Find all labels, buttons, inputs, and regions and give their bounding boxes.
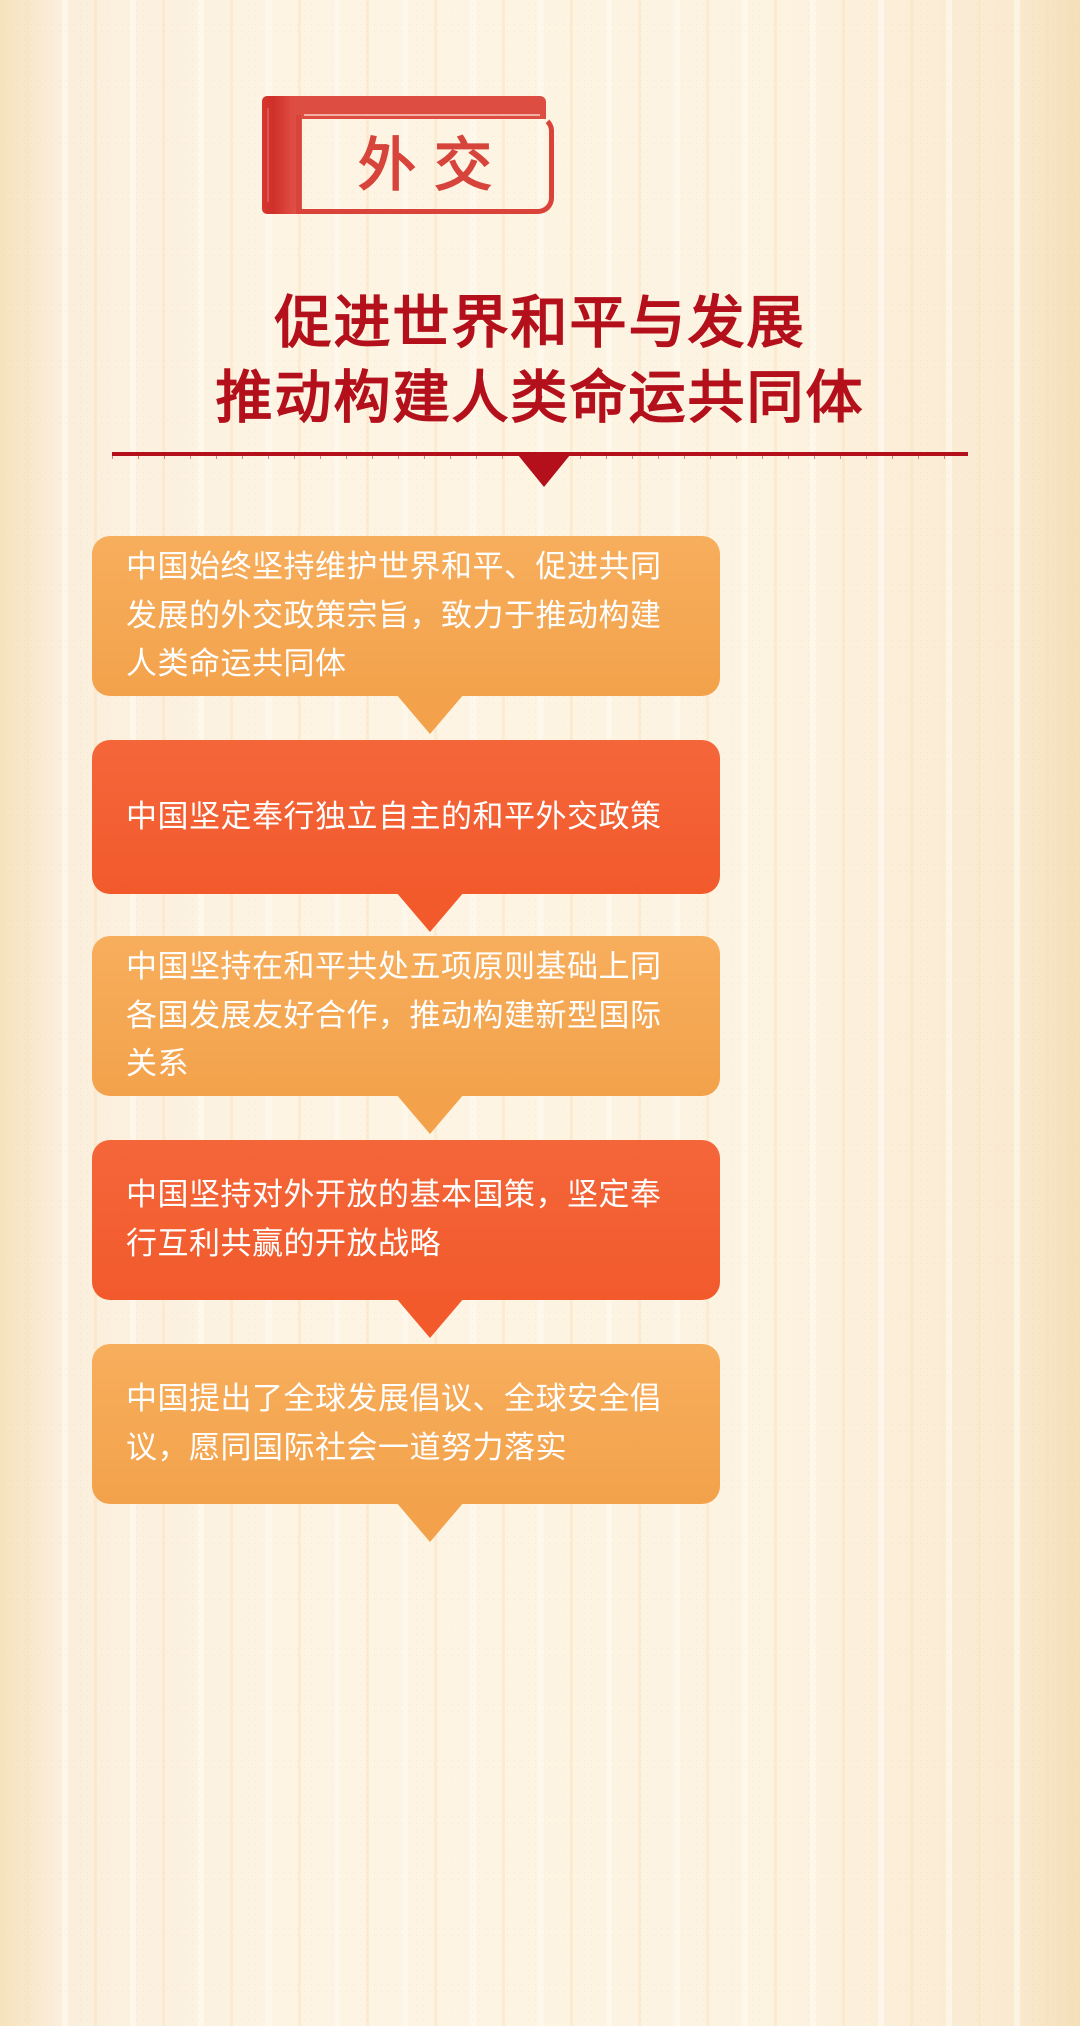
info-card-text: 中国始终坚持维护世界和平、促进共同发展的外交政策宗旨，致力于推动构建人类命运共同… [126, 543, 686, 690]
info-card[interactable]: 中国提出了全球发展倡议、全球安全倡议，愿同国际社会一道努力落实 [92, 1344, 720, 1504]
info-card[interactable]: 中国坚定奉行独立自主的和平外交政策 [92, 740, 720, 894]
info-card[interactable]: 中国坚持对外开放的基本国策，坚定奉行互利共赢的开放战略 [92, 1140, 720, 1300]
page-title: 促进世界和平与发展 推动构建人类命运共同体 [0, 286, 1080, 436]
info-card[interactable]: 中国始终坚持维护世界和平、促进共同发展的外交政策宗旨，致力于推动构建人类命运共同… [92, 536, 720, 696]
divider-down-triangle-icon [518, 455, 570, 487]
info-card-notch-icon [396, 694, 464, 734]
info-card[interactable]: 中国坚持在和平共处五项原则基础上同各国发展友好合作，推动构建新型国际关系 [92, 936, 720, 1096]
info-card-text: 中国坚持对外开放的基本国策，坚定奉行互利共赢的开放战略 [126, 1171, 686, 1269]
poster-root: 外交 促进世界和平与发展 推动构建人类命运共同体 中国始终坚持维护世界和平、促进… [0, 0, 1080, 2026]
info-card-notch-icon [396, 1298, 464, 1338]
info-card-notch-icon [396, 1502, 464, 1542]
info-card-notch-icon [396, 1094, 464, 1134]
info-card-notch-icon [396, 892, 464, 932]
page-title-line-2: 推动构建人类命运共同体 [0, 361, 1080, 436]
badge-label: 外交 [296, 115, 554, 214]
info-card-text: 中国提出了全球发展倡议、全球安全倡议，愿同国际社会一道努力落实 [126, 1375, 686, 1473]
section-badge: 外交 [262, 96, 562, 214]
info-card-text: 中国坚持在和平共处五项原则基础上同各国发展友好合作，推动构建新型国际关系 [126, 943, 686, 1090]
info-card-text: 中国坚定奉行独立自主的和平外交政策 [126, 793, 686, 842]
page-title-line-1: 促进世界和平与发展 [0, 286, 1080, 361]
